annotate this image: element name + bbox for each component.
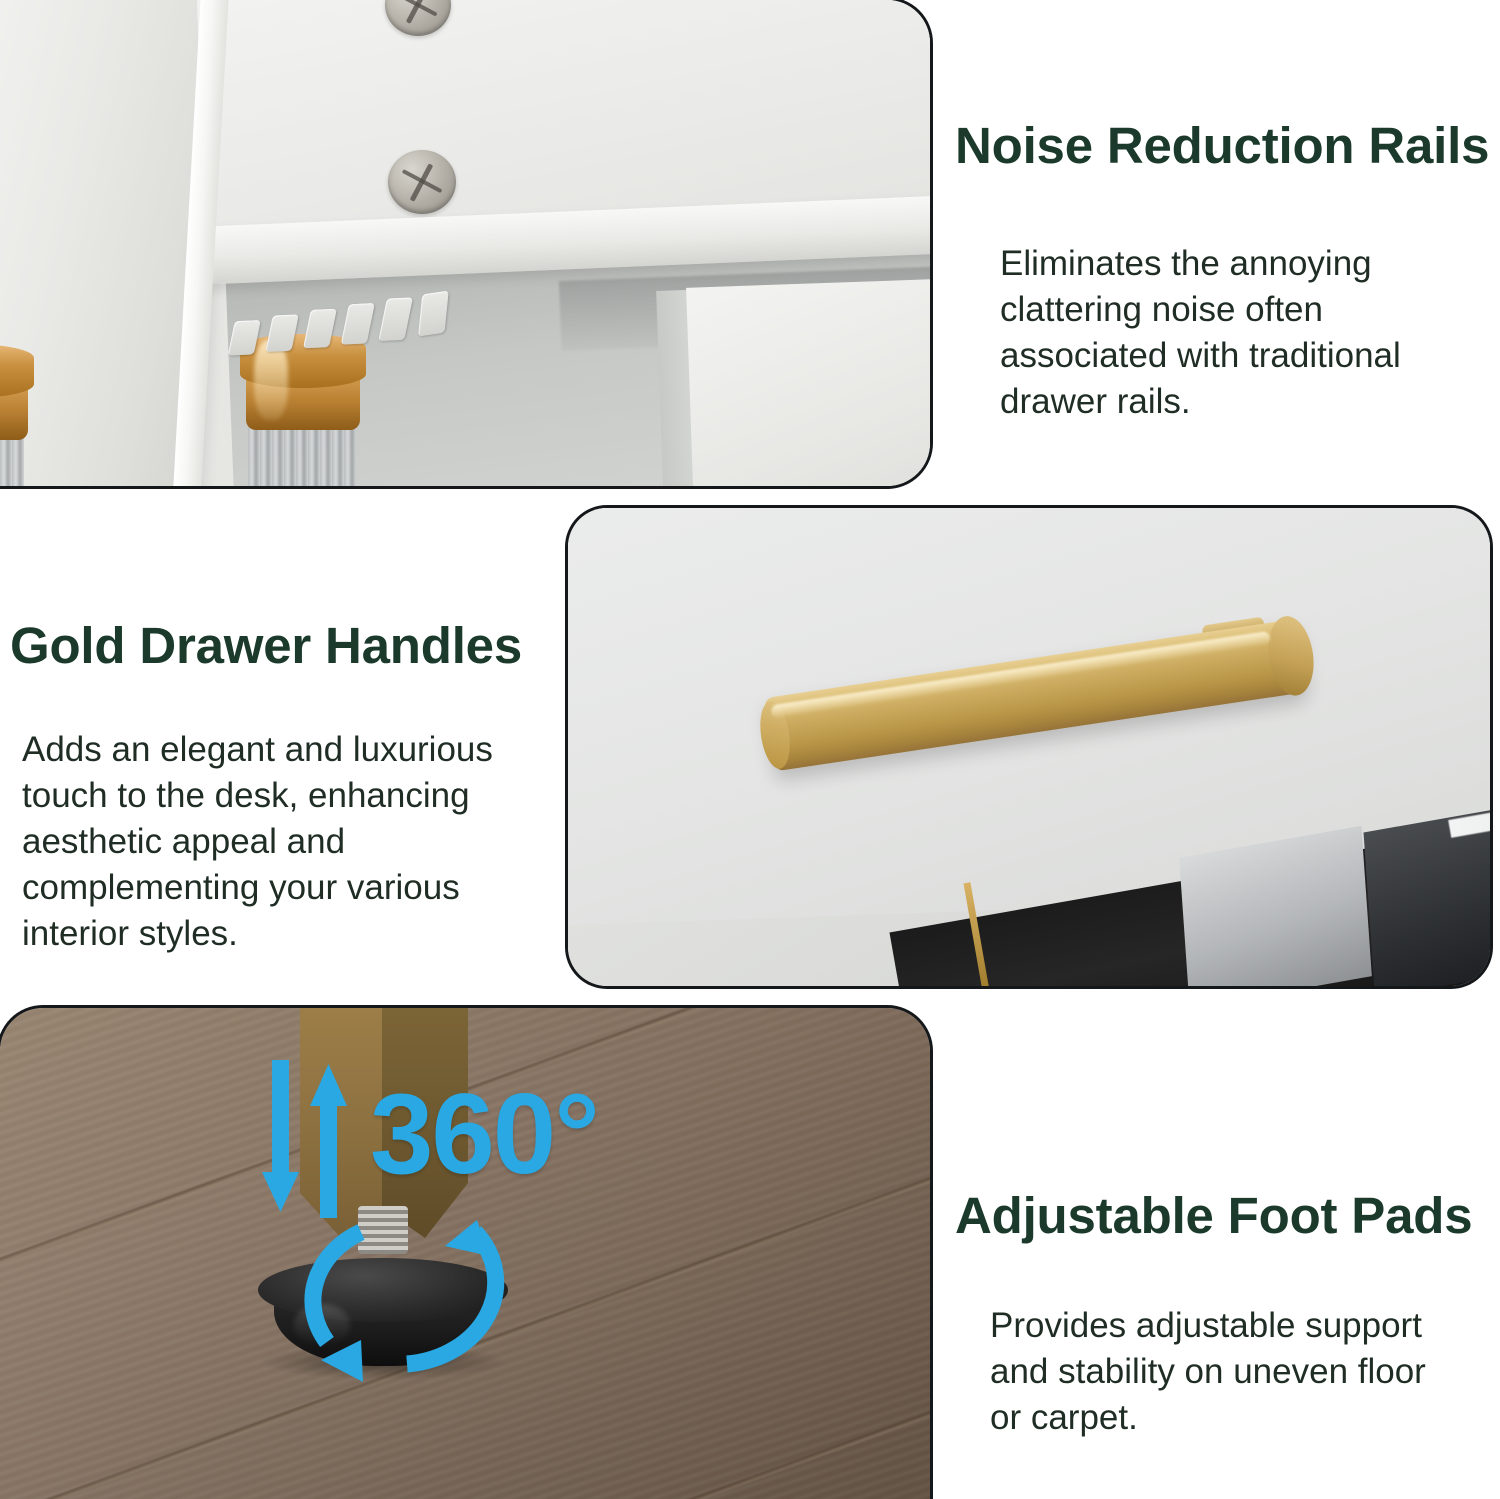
heading-gold-drawer-handles: Gold Drawer Handles — [10, 620, 522, 671]
rotation-degrees-label: 360° — [370, 1078, 598, 1192]
rail-slat — [418, 291, 449, 337]
gold-handle-scene — [568, 508, 1490, 986]
photo-noise-reduction-rails — [0, 0, 933, 489]
cabinet-interior-panel — [686, 276, 933, 489]
height-adjust-arrows-icon — [258, 1060, 378, 1220]
rail-slat — [303, 309, 337, 349]
rail-slat — [228, 320, 261, 355]
body-noise-reduction-rails: Eliminates the annoying clattering noise… — [1000, 241, 1460, 425]
rail-slat — [341, 303, 375, 345]
collar-top — [0, 344, 34, 398]
body-gold-drawer-handles: Adds an elegant and luxurious touch to t… — [22, 727, 522, 957]
rotation-circle-arrow-icon — [265, 1212, 565, 1392]
heading-noise-reduction-rails: Noise Reduction Rails — [955, 120, 1489, 171]
noise-rails-scene — [0, 0, 930, 486]
rail-slat — [378, 297, 413, 341]
rail-slat — [265, 314, 298, 351]
body-adjustable-foot-pads: Provides adjustable support and stabilit… — [990, 1303, 1460, 1441]
photo-gold-drawer-handles — [565, 505, 1493, 989]
noise-reduction-rail-slats — [224, 294, 486, 363]
gold-leg-collar-secondary — [0, 310, 48, 489]
phillips-screw-icon — [388, 150, 456, 214]
heading-adjustable-foot-pads: Adjustable Foot Pads — [955, 1190, 1472, 1241]
